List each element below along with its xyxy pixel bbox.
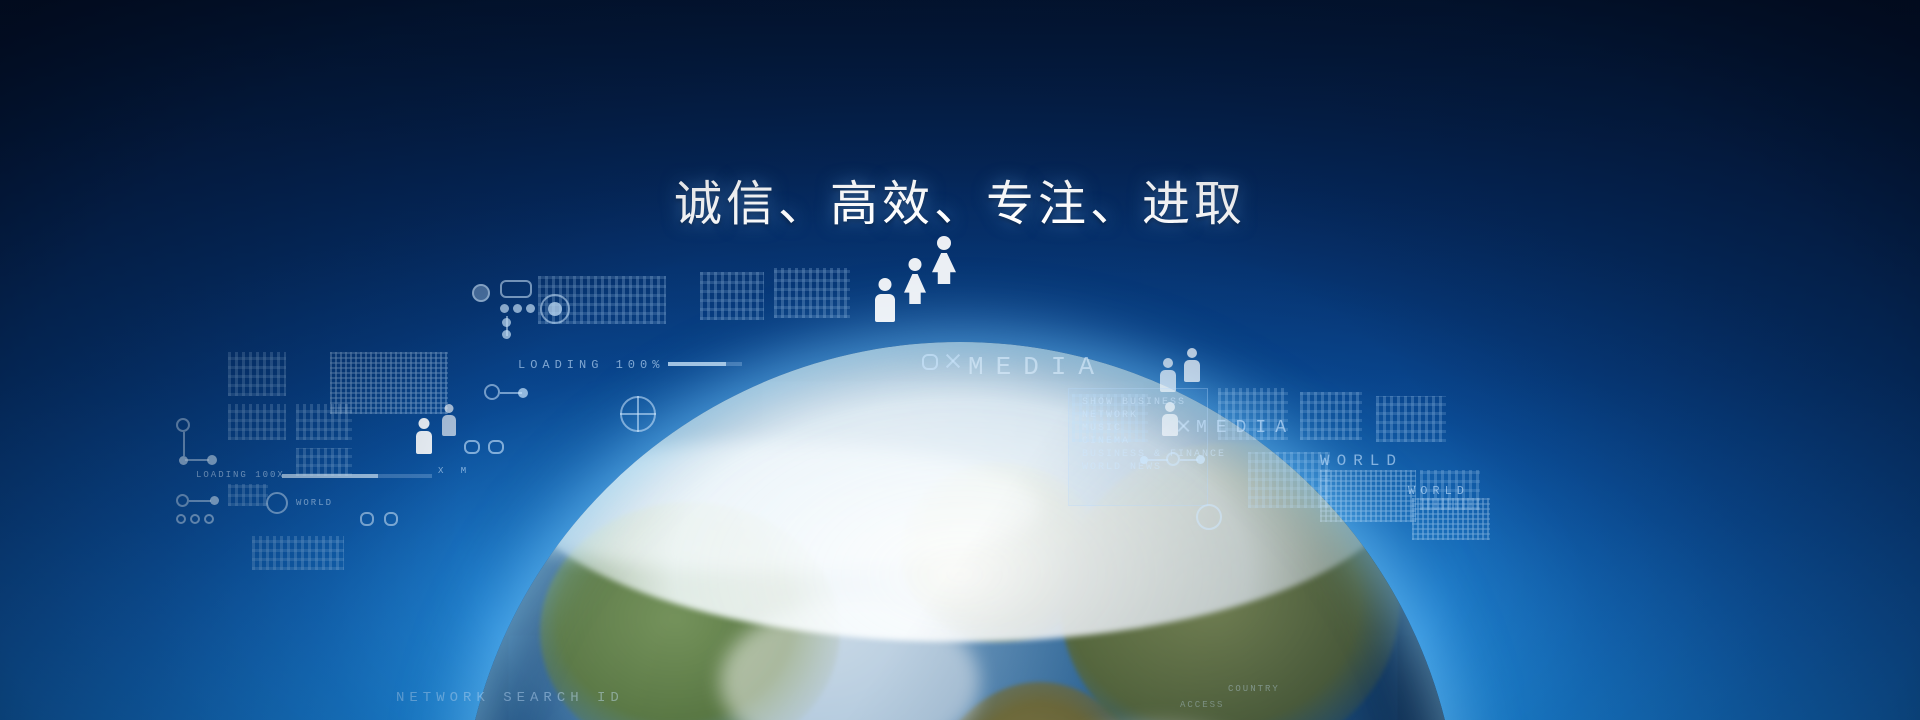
node-dot-icon xyxy=(207,455,217,465)
person-icon xyxy=(414,418,434,454)
globe-wire-icon xyxy=(266,492,288,514)
person-head xyxy=(937,236,951,250)
data-block-left-2 xyxy=(228,404,286,440)
chip-icon xyxy=(190,514,200,524)
person-icon xyxy=(440,404,458,436)
hero-banner: 诚信、高效、专注、进取 LOADING 100X X M WORLD xyxy=(0,0,1920,720)
node-ring-icon xyxy=(176,494,189,507)
progress-track-left xyxy=(282,474,432,478)
node-ring-icon xyxy=(176,418,190,432)
data-block-left-6 xyxy=(252,536,344,570)
node-dot-icon xyxy=(526,304,535,313)
person-body xyxy=(416,431,432,454)
chip-icon xyxy=(204,514,214,524)
node-dot-icon xyxy=(179,456,188,465)
node-connector xyxy=(183,432,185,456)
node-cluster-left-lower xyxy=(176,486,232,520)
data-block-left-5 xyxy=(228,484,268,506)
node-cluster-center xyxy=(472,278,602,340)
data-block-left-3 xyxy=(296,404,352,440)
page-title: 诚信、高效、专注、进取 xyxy=(0,164,1920,234)
node-connector xyxy=(189,500,211,502)
node-dot-icon xyxy=(548,302,562,316)
person-head xyxy=(419,418,430,429)
node-dot-icon xyxy=(502,330,511,339)
node-dot-icon xyxy=(210,496,219,505)
data-block-center-1 xyxy=(538,276,666,324)
node-connector xyxy=(185,459,209,461)
search-icon xyxy=(360,512,374,526)
world-label-left: WORLD xyxy=(296,498,333,508)
globe-sphere xyxy=(460,342,1460,720)
person-head xyxy=(445,404,454,413)
tag-row-left xyxy=(360,512,420,528)
person-head xyxy=(909,258,922,271)
node-dot-icon xyxy=(502,318,511,327)
person-body xyxy=(442,415,456,436)
node-dot-icon xyxy=(513,304,522,313)
progress-fill-left xyxy=(282,474,378,478)
chip-row-left xyxy=(176,514,216,526)
node-connector xyxy=(506,316,508,336)
loading-label-left: LOADING 100X xyxy=(196,470,285,480)
node-ring-large-icon xyxy=(540,294,570,324)
world-map-left xyxy=(330,352,448,414)
data-block-left-4 xyxy=(296,448,352,476)
chip-icon xyxy=(176,514,186,524)
refresh-icon xyxy=(384,512,398,526)
node-ring-icon xyxy=(472,284,490,302)
node-dot-icon xyxy=(500,304,509,313)
globe-graphic xyxy=(460,342,1460,720)
node-cluster-left xyxy=(176,418,222,468)
data-block-left-1 xyxy=(228,352,286,396)
node-chip-icon xyxy=(500,280,532,298)
